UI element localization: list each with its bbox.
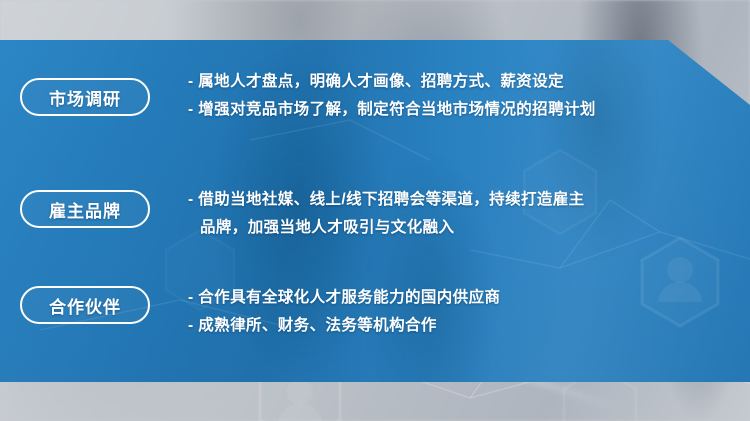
section-body-partners: - 合作具有全球化人才服务能力的国内供应商 - 成熟律所、财务、法务等机构合作 [188,284,733,340]
section-label-market-research[interactable]: 市场调研 [20,78,150,116]
section-body-market-research: - 属地人才盘点，明确人才画像、招聘方式、薪资设定 - 增强对竞品市场了解，制定… [188,68,733,124]
body-line: - 属地人才盘点，明确人才画像、招聘方式、薪资设定 [188,68,733,96]
slide-canvas: 市场调研 - 属地人才盘点，明确人才画像、招聘方式、薪资设定 - 增强对竞品市场… [0,0,750,421]
section-label-partners[interactable]: 合作伙伴 [20,286,150,324]
body-line: - 合作具有全球化人才服务能力的国内供应商 [188,284,733,312]
body-line: - 借助当地社媒、线上/线下招聘会等渠道，持续打造雇主 [188,186,733,214]
body-line: 品牌，加强当地人才吸引与文化融入 [188,214,733,242]
panel-content: 市场调研 - 属地人才盘点，明确人才画像、招聘方式、薪资设定 - 增强对竞品市场… [0,0,750,421]
body-line: - 增强对竞品市场了解，制定符合当地市场情况的招聘计划 [188,96,733,124]
section-body-employer-brand: - 借助当地社媒、线上/线下招聘会等渠道，持续打造雇主 品牌，加强当地人才吸引与… [188,186,733,242]
body-line: - 成熟律所、财务、法务等机构合作 [188,312,733,340]
section-label-employer-brand[interactable]: 雇主品牌 [20,190,150,228]
